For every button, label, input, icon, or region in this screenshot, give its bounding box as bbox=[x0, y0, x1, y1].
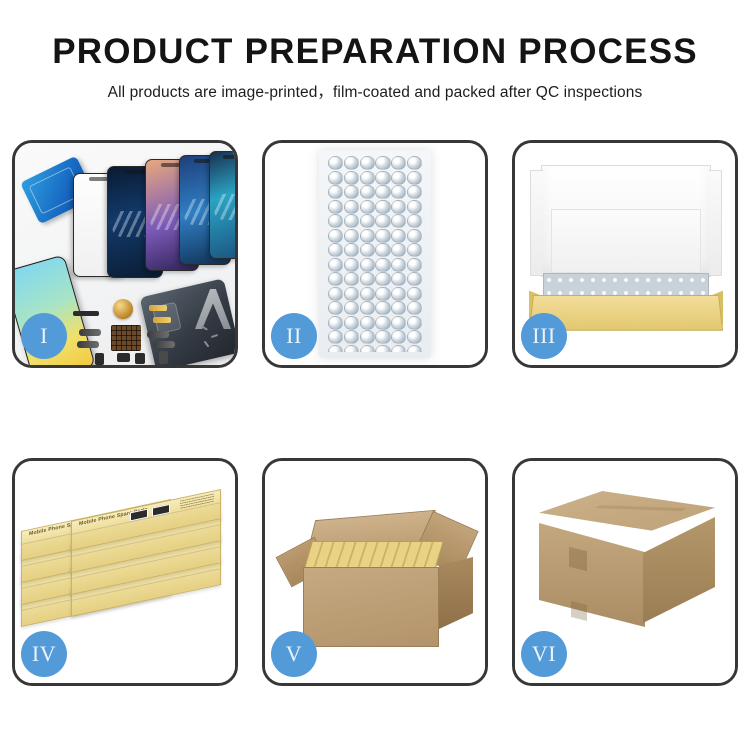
bubble bbox=[375, 316, 390, 330]
bubble bbox=[328, 272, 343, 286]
bubble bbox=[375, 171, 390, 185]
bubble bbox=[360, 214, 375, 228]
bubble bbox=[328, 229, 343, 243]
bubble bbox=[360, 316, 375, 330]
bubble bbox=[391, 156, 406, 170]
bubble bbox=[391, 171, 406, 185]
bubble bbox=[391, 185, 406, 199]
bubble bbox=[375, 272, 390, 286]
step-badge-2: II bbox=[271, 313, 317, 359]
bubble bbox=[407, 156, 422, 170]
bubble bbox=[360, 258, 375, 272]
bubble bbox=[391, 287, 406, 301]
bubble bbox=[407, 171, 422, 185]
process-step-panel-5: V bbox=[262, 458, 488, 686]
foam-insert bbox=[551, 209, 701, 273]
carton-seam-mark bbox=[569, 547, 587, 571]
bubble bbox=[344, 258, 359, 272]
bubble bbox=[328, 287, 343, 301]
step-badge-3: III bbox=[521, 313, 567, 359]
bubble bbox=[360, 243, 375, 257]
bubble bbox=[360, 272, 375, 286]
bubble bbox=[344, 243, 359, 257]
bubble bbox=[360, 156, 375, 170]
bubble bbox=[407, 200, 422, 214]
bubble bbox=[344, 214, 359, 228]
bubble bbox=[407, 272, 422, 286]
bubble bbox=[391, 214, 406, 228]
bubble bbox=[344, 345, 359, 353]
bubble bbox=[375, 185, 390, 199]
carton-right-face bbox=[643, 517, 715, 623]
bubble bbox=[328, 258, 343, 272]
bubble bbox=[328, 243, 343, 257]
bubble bbox=[407, 214, 422, 228]
bubble bbox=[407, 229, 422, 243]
bubble bbox=[344, 330, 359, 344]
bubble bbox=[344, 287, 359, 301]
bubble bbox=[375, 301, 390, 315]
bubble bbox=[407, 243, 422, 257]
bubble bbox=[328, 301, 343, 315]
process-step-panel-1: I bbox=[12, 140, 238, 368]
bubble bbox=[344, 171, 359, 185]
bubble bbox=[328, 156, 343, 170]
phone-screen-icon bbox=[209, 151, 235, 259]
bubble bbox=[407, 185, 422, 199]
bubble bbox=[344, 156, 359, 170]
bubble bbox=[344, 200, 359, 214]
bubble bbox=[360, 287, 375, 301]
bubble bbox=[391, 316, 406, 330]
spare-parts-cluster bbox=[73, 295, 199, 365]
bubble bbox=[375, 214, 390, 228]
process-step-panel-2: II bbox=[262, 140, 488, 368]
bubble bbox=[375, 156, 390, 170]
bubble bbox=[407, 287, 422, 301]
bubble-grid bbox=[328, 156, 422, 352]
bubble bbox=[391, 272, 406, 286]
bubble bbox=[344, 316, 359, 330]
bubble bbox=[328, 345, 343, 353]
process-step-panel-6: VI bbox=[512, 458, 738, 686]
step-badge-6: VI bbox=[521, 631, 567, 677]
bubble bbox=[391, 200, 406, 214]
bubble bbox=[344, 272, 359, 286]
process-step-panel-3: III bbox=[512, 140, 738, 368]
header: PRODUCT PREPARATION PROCESS All products… bbox=[0, 0, 750, 102]
bubble bbox=[328, 171, 343, 185]
bubble bbox=[328, 200, 343, 214]
bubble bbox=[328, 185, 343, 199]
bubble bbox=[407, 258, 422, 272]
bubble bbox=[360, 171, 375, 185]
infographic-page: PRODUCT PREPARATION PROCESS All products… bbox=[0, 0, 750, 750]
bubble bbox=[375, 200, 390, 214]
carton-left-face bbox=[539, 523, 645, 627]
bubble bbox=[391, 345, 406, 353]
bubble bbox=[391, 243, 406, 257]
bubble bbox=[328, 330, 343, 344]
bubble bbox=[360, 185, 375, 199]
step-badge-5: V bbox=[271, 631, 317, 677]
bubble bbox=[344, 229, 359, 243]
bubble bbox=[391, 229, 406, 243]
bubble bbox=[407, 316, 422, 330]
bubble bbox=[360, 301, 375, 315]
process-step-panel-4: Mobile Phone Spare PartsMobile Phone Spa… bbox=[12, 458, 238, 686]
bubble bbox=[360, 330, 375, 344]
bubble bbox=[360, 200, 375, 214]
screws-icon bbox=[199, 323, 229, 353]
bubble bbox=[375, 258, 390, 272]
bubble bbox=[328, 316, 343, 330]
process-step-grid: I II III bbox=[12, 140, 738, 686]
bubble bbox=[375, 287, 390, 301]
bubble bbox=[328, 214, 343, 228]
bubble bbox=[407, 345, 422, 353]
bubble bbox=[407, 330, 422, 344]
page-subtitle: All products are image-printed，film-coat… bbox=[0, 80, 750, 102]
sealed-carton-icon bbox=[533, 491, 723, 661]
carton-front-face bbox=[303, 567, 439, 647]
page-title: PRODUCT PREPARATION PROCESS bbox=[0, 34, 750, 71]
bubble bbox=[375, 345, 390, 353]
bubble bbox=[360, 229, 375, 243]
bubble bbox=[391, 330, 406, 344]
phone-screen-fan bbox=[73, 151, 235, 283]
bubble bbox=[344, 185, 359, 199]
bubble bbox=[391, 258, 406, 272]
step-badge-1: I bbox=[21, 313, 67, 359]
bubble bbox=[375, 229, 390, 243]
bubble bbox=[375, 330, 390, 344]
bubble bbox=[344, 301, 359, 315]
bubble bbox=[391, 301, 406, 315]
carton-side-face bbox=[439, 557, 473, 629]
bubble bbox=[375, 243, 390, 257]
bubble-wrap-pouch-icon bbox=[319, 150, 431, 358]
bubble bbox=[407, 301, 422, 315]
bubble bbox=[360, 345, 375, 353]
step-badge-4: IV bbox=[21, 631, 67, 677]
carton-seam-mark bbox=[571, 601, 587, 621]
